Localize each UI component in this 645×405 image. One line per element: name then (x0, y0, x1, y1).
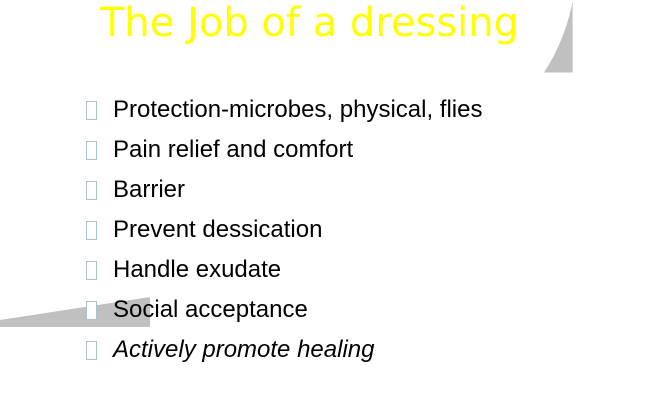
list-item[interactable]: Handle exudate (86, 255, 626, 295)
list-item[interactable]: Actively promote healing (86, 335, 626, 375)
bullet-box-icon (86, 341, 97, 360)
list-item-label: Barrier (113, 175, 626, 205)
list-item-label: Pain relief and comfort (113, 135, 626, 165)
bullet-box-icon (86, 181, 97, 200)
list-item[interactable]: Protection-microbes, physical, flies (86, 95, 626, 135)
presentation-slide: The Job of a dressing Protection-microbe… (0, 0, 645, 405)
bullet-box-icon (86, 261, 97, 280)
list-item-label: Actively promote healing (113, 335, 626, 365)
bullet-box-icon (86, 141, 97, 160)
list-item-label: Handle exudate (113, 255, 626, 285)
list-item-label: Protection-microbes, physical, flies (113, 95, 626, 125)
bullet-box-icon (86, 301, 97, 320)
list-item-label: Prevent dessication (113, 215, 626, 245)
list-item-label: Social acceptance (113, 295, 626, 325)
bullet-box-icon (86, 101, 97, 120)
list-item[interactable]: Pain relief and comfort (86, 135, 626, 175)
list-item[interactable]: Prevent dessication (86, 215, 626, 255)
bullet-box-icon (86, 221, 97, 240)
slide-title: The Job of a dressing (0, 0, 645, 46)
bullet-list: Protection-microbes, physical, flies Pai… (86, 95, 626, 375)
list-item[interactable]: Social acceptance (86, 295, 626, 335)
list-item[interactable]: Barrier (86, 175, 626, 215)
